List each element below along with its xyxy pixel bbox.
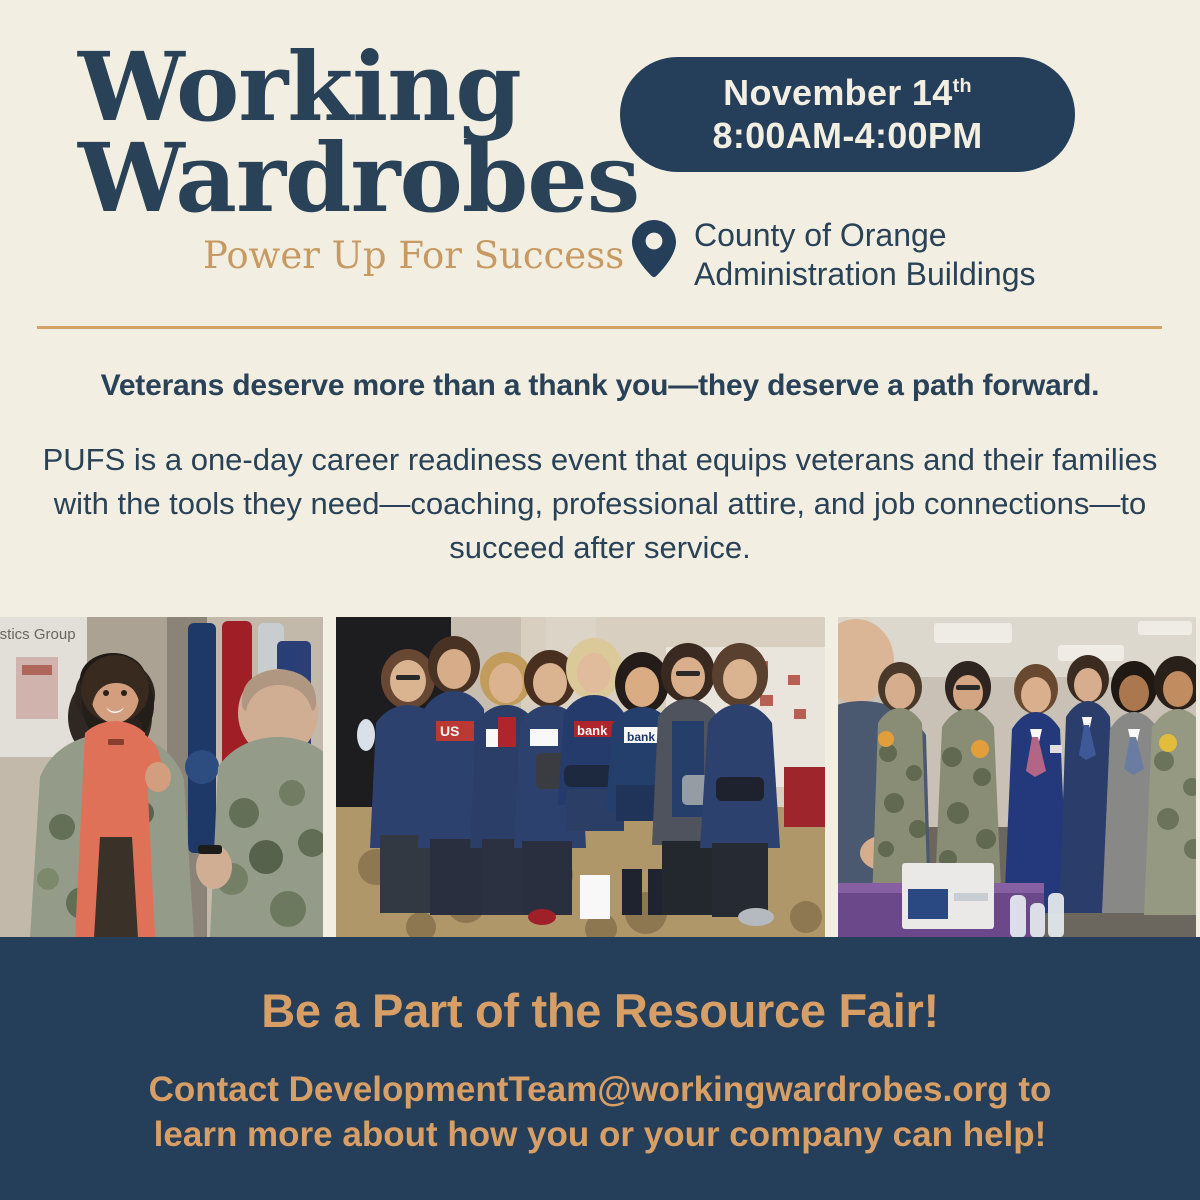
photo-woman-greeting-service-members: gistics Group	[0, 617, 323, 938]
event-date-ordinal: th	[953, 75, 972, 97]
map-pin-icon	[632, 220, 676, 283]
footer-heading: Be a Part of the Resource Fair!	[0, 985, 1200, 1037]
location-line-2: Administration Buildings	[694, 256, 1036, 292]
photo-resource-fair-attendees: Service members in camouflage and young …	[838, 617, 1196, 938]
header: Working Wardrobes Power Up For Success N…	[0, 0, 1200, 327]
event-location: County of Orange Administration Building…	[632, 216, 1036, 294]
footer-contact-text: Contact DevelopmentTeam@workingwardrobes…	[70, 1067, 1130, 1158]
description-paragraph: PUFS is a one-day career readiness event…	[40, 438, 1160, 570]
brand-logo: Working Wardrobes Power Up For Success	[78, 44, 578, 274]
logo-line-working: Working	[78, 44, 578, 131]
location-text: County of Orange Administration Building…	[694, 216, 1036, 294]
footer-contact-line-2: learn more about how you or your company…	[154, 1115, 1047, 1154]
headline: Veterans deserve more than a thank you—t…	[35, 368, 1165, 404]
photo-volunteer-group: US	[336, 617, 825, 938]
event-date: November 14th	[723, 72, 972, 114]
event-date-text: November 14	[723, 72, 952, 113]
footer-cta: Be a Part of the Resource Fair! Contact …	[0, 937, 1200, 1200]
logo-line-wardrobes: Wardrobes	[78, 135, 578, 222]
photo-strip: gistics Group	[0, 617, 1200, 938]
header-divider	[37, 326, 1162, 329]
intro-copy: Veterans deserve more than a thank you—t…	[0, 368, 1200, 570]
brand-tagline: Power Up For Success	[203, 237, 578, 274]
location-line-1: County of Orange	[694, 217, 947, 253]
footer-contact-line-1: Contact DevelopmentTeam@workingwardrobes…	[149, 1070, 1052, 1109]
event-time: 8:00AM-4:00PM	[713, 115, 983, 157]
flyer: Working Wardrobes Power Up For Success N…	[0, 0, 1200, 1200]
event-date-badge: November 14th 8:00AM-4:00PM	[620, 57, 1075, 172]
